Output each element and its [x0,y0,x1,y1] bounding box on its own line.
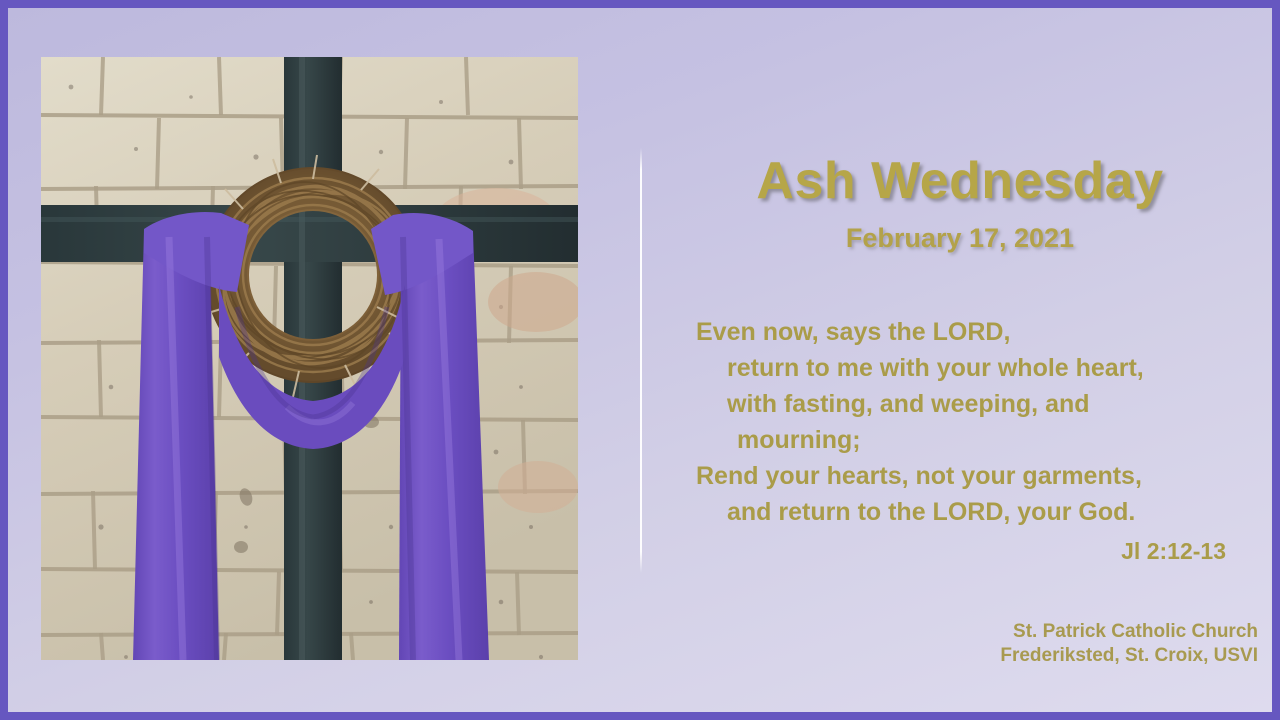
cross-photograph [41,57,578,660]
cross-photo-illustration [41,57,578,660]
scripture-line: return to me with your whole heart, [696,350,1256,386]
parish-location: Frederiksted, St. Croix, USVI [648,644,1258,668]
parish-footer: St. Patrick Catholic Church Frederiksted… [648,620,1258,668]
scripture-citation: Jl 2:12-13 [648,538,1226,565]
page-title: Ash Wednesday [648,151,1272,211]
parish-name: St. Patrick Catholic Church [648,620,1258,644]
vertical-divider [640,148,642,573]
scripture-line: and return to the LORD, your God. [696,494,1256,530]
slide-date: February 17, 2021 [648,223,1272,254]
scripture-passage: Even now, says the LORD, return to me wi… [696,314,1256,530]
ash-wednesday-slide: Ash Wednesday February 17, 2021 Even now… [0,0,1280,720]
content-column: Ash Wednesday February 17, 2021 Even now… [648,8,1272,712]
scripture-line: Even now, says the LORD, [696,314,1256,350]
scripture-line: Rend your hearts, not your garments, [696,458,1256,494]
scripture-line: with fasting, and weeping, and [696,386,1256,422]
scripture-line: mourning; [696,422,1256,458]
